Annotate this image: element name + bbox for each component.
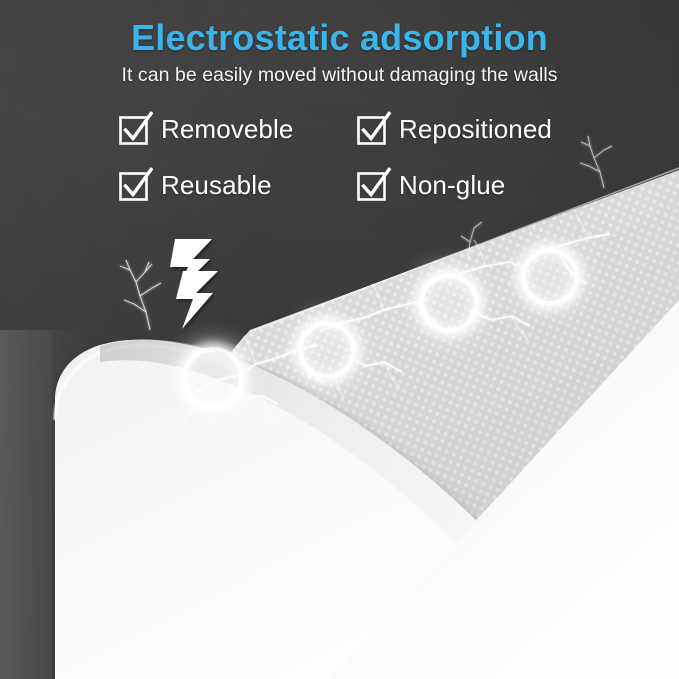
header: Electrostatic adsorption It can be easil… bbox=[0, 18, 679, 87]
checkbox-checked-icon bbox=[118, 168, 152, 202]
feature-item-removeble: Removeble bbox=[118, 112, 356, 146]
feature-item-reusable: Reusable bbox=[118, 168, 356, 202]
feature-item-non-glue: Non-glue bbox=[356, 168, 588, 202]
feature-label: Repositioned bbox=[399, 116, 552, 142]
checkbox-checked-icon bbox=[356, 112, 390, 146]
page-subtitle: It can be easily moved without damaging … bbox=[0, 64, 679, 87]
page-title: Electrostatic adsorption bbox=[0, 18, 679, 58]
peeling-sheet-illustration bbox=[0, 0, 679, 679]
checkbox-checked-icon bbox=[356, 168, 390, 202]
product-feature-banner: Electrostatic adsorption It can be easil… bbox=[0, 0, 679, 679]
lightning-bolt-icon bbox=[166, 237, 232, 333]
feature-list: Removeble Repositioned Reusable bbox=[118, 112, 588, 202]
feature-item-repositioned: Repositioned bbox=[356, 112, 588, 146]
checkbox-checked-icon bbox=[118, 112, 152, 146]
feature-label: Reusable bbox=[161, 172, 272, 198]
feature-label: Removeble bbox=[161, 116, 293, 142]
feature-label: Non-glue bbox=[399, 172, 505, 198]
